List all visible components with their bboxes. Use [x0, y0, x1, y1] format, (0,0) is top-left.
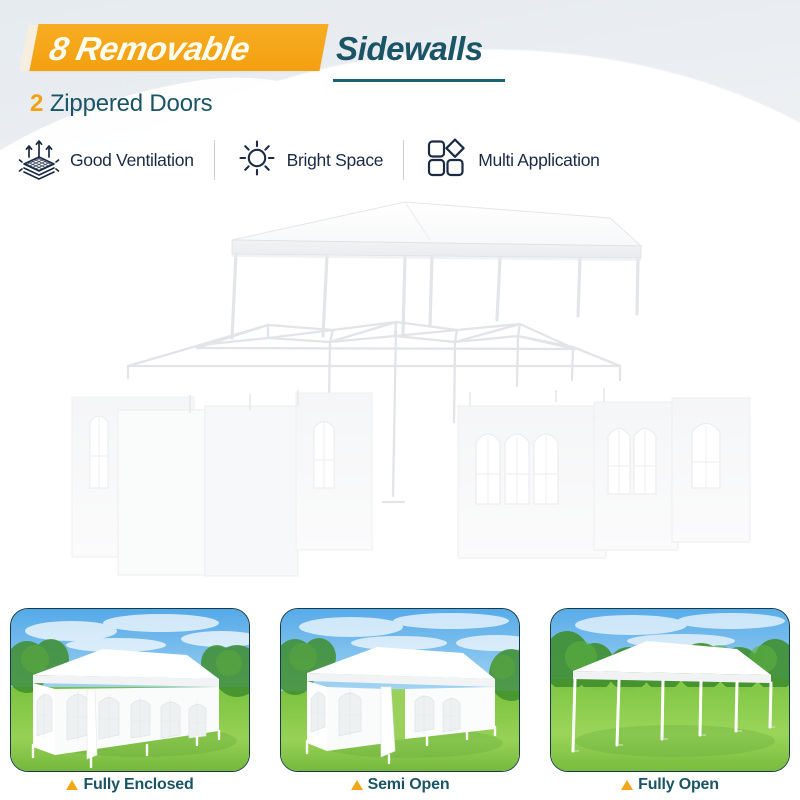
triangle-bullet-icon — [621, 780, 633, 790]
subheadline-number: 2 — [30, 90, 43, 117]
variant-label-text: Fully Enclosed — [83, 776, 193, 794]
variant-card-label: Semi Open — [280, 776, 520, 794]
feature-good-ventilation: Good Ventilation — [16, 135, 194, 186]
feature-list: Good Ventilation Bright Space — [16, 133, 784, 187]
variant-card-fully-open[interactable]: Fully Open — [550, 608, 790, 772]
ventilation-icon — [16, 135, 62, 186]
variant-card-label: Fully Open — [550, 776, 790, 794]
sidewall-panel-solid-a — [118, 410, 208, 575]
sidewall-panel-window-right-b — [594, 402, 678, 550]
tent-fully-enclosed-photo — [10, 608, 250, 772]
variant-card-list: Fully Enclosed — [0, 608, 800, 800]
headline: 8 Removable Sidewalls — [0, 18, 800, 80]
feature-label: Bright Space — [287, 150, 384, 171]
variant-card-fully-enclosed[interactable]: Fully Enclosed — [10, 608, 250, 772]
triangle-bullet-icon — [66, 780, 78, 790]
headline-banner-text: 8 Removable — [46, 30, 333, 68]
feature-label: Multi Application — [478, 150, 599, 171]
tent-fully-open-photo — [550, 608, 790, 772]
headline-accent-text: Sidewalls — [336, 30, 483, 68]
feature-multi-application: Multi Application — [424, 136, 599, 185]
sidewall-group-right — [458, 388, 750, 558]
canopy-roof-assembly — [232, 202, 641, 338]
subheadline-text: Zippered Doors — [50, 90, 213, 117]
sidewall-panel-window-right-c — [672, 398, 750, 542]
sidewall-group-left — [72, 390, 372, 576]
feature-divider — [403, 140, 404, 180]
feature-bright-space: Bright Space — [235, 136, 384, 185]
sidewall-panel-window-right-a — [458, 406, 606, 558]
subheadline: 2 Zippered Doors — [30, 90, 212, 118]
variant-label-text: Fully Open — [638, 776, 719, 794]
multi-application-icon — [424, 136, 470, 185]
headline-underline — [333, 79, 505, 82]
triangle-bullet-icon — [351, 780, 363, 790]
sidewall-panel-solid-b — [205, 406, 298, 576]
tent-semi-open-photo — [280, 608, 520, 772]
variant-card-semi-open[interactable]: Semi Open — [280, 608, 520, 772]
hero-product-illustration — [0, 190, 800, 590]
variant-label-text: Semi Open — [368, 776, 450, 794]
sidewall-panel-window-left-b — [296, 393, 372, 550]
feature-label: Good Ventilation — [70, 150, 194, 171]
feature-divider — [214, 140, 215, 180]
variant-card-label: Fully Enclosed — [10, 776, 250, 794]
sun-icon — [235, 136, 279, 185]
